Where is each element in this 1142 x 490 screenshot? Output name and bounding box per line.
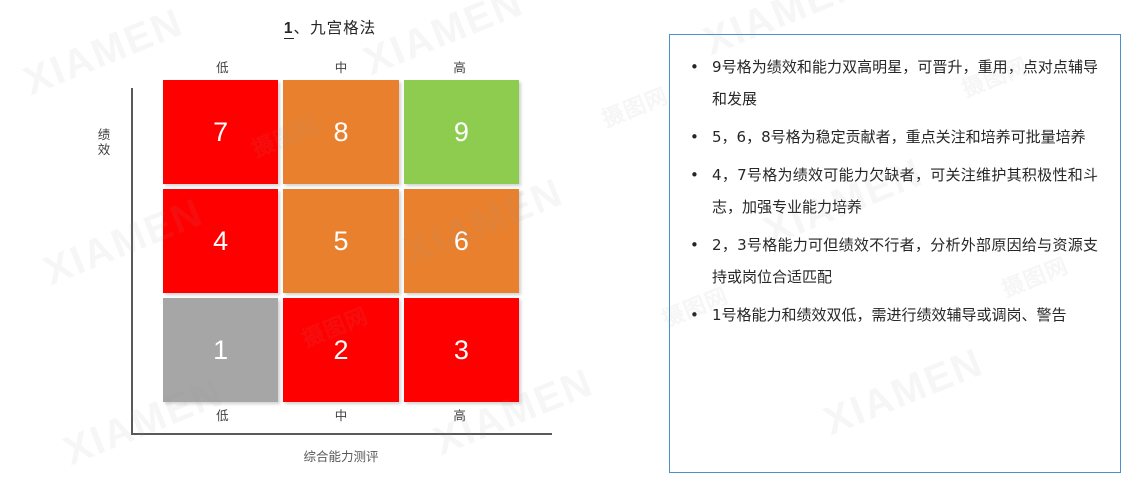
column-header-bottom-low: 低 (163, 405, 282, 424)
grid-cell-label: 9 (454, 117, 469, 148)
bullet-icon: • (690, 121, 699, 153)
grid-cell-9[interactable]: 9 (404, 80, 519, 184)
nine-box-grid: 7 8 9 4 5 6 1 2 3 (163, 80, 519, 402)
chart-title-text: 九宫格法 (310, 20, 376, 37)
bullet-icon: • (690, 51, 699, 83)
grid-cell-4[interactable]: 4 (163, 189, 278, 293)
column-headers-bottom: 低 中 高 (163, 405, 519, 424)
list-item: • 9号格为绩效和能力双高明星，可晋升，重用，点对点辅导和发展 (684, 51, 1098, 115)
list-item: • 5，6，8号格为稳定贡献者，重点关注和培养可批量培养 (684, 121, 1098, 153)
note-text: 4，7号格为绩效可能力欠缺者，可关注维护其积极性和斗志，加强专业能力培养 (712, 166, 1098, 216)
note-text: 1号格能力和绩效双低，需进行绩效辅导或调岗、警告 (712, 306, 1067, 324)
grid-cell-5[interactable]: 5 (283, 189, 398, 293)
column-header-bottom-mid: 中 (282, 405, 401, 424)
grid-cell-3[interactable]: 3 (404, 298, 519, 402)
y-axis-label: 绩效 (92, 128, 116, 158)
bullet-icon: • (690, 229, 699, 261)
bullet-icon: • (690, 299, 699, 331)
x-axis-label: 综合能力测评 (163, 446, 519, 465)
bullet-icon: • (690, 159, 699, 191)
chart-title: 1、九宫格法 (0, 16, 660, 38)
grid-cell-6[interactable]: 6 (404, 189, 519, 293)
grid-cell-label: 5 (333, 226, 348, 257)
x-axis-line (131, 433, 552, 435)
list-item: • 1号格能力和绩效双低，需进行绩效辅导或调岗、警告 (684, 299, 1098, 331)
notes-panel: • 9号格为绩效和能力双高明星，可晋升，重用，点对点辅导和发展 • 5，6，8号… (669, 34, 1121, 473)
list-item: • 4，7号格为绩效可能力欠缺者，可关注维护其积极性和斗志，加强专业能力培养 (684, 159, 1098, 223)
chart-title-number: 1 (284, 20, 294, 39)
notes-list: • 9号格为绩效和能力双高明星，可晋升，重用，点对点辅导和发展 • 5，6，8号… (670, 35, 1120, 331)
list-item: • 2，3号格能力可但绩效不行者，分析外部原因给与资源支持或岗位合适匹配 (684, 229, 1098, 293)
grid-cell-1[interactable]: 1 (163, 298, 278, 402)
y-axis-line (131, 88, 133, 435)
grid-cell-label: 2 (333, 335, 348, 366)
note-text: 2，3号格能力可但绩效不行者，分析外部原因给与资源支持或岗位合适匹配 (712, 236, 1098, 286)
column-headers-top: 低 中 高 (163, 57, 519, 76)
grid-cell-8[interactable]: 8 (283, 80, 398, 184)
column-header-top-mid: 中 (282, 57, 401, 76)
column-header-bottom-high: 高 (400, 405, 519, 424)
grid-cell-7[interactable]: 7 (163, 80, 278, 184)
nine-box-chart-panel: 1、九宫格法 低 中 高 绩效 7 8 9 4 5 6 1 2 (0, 0, 660, 490)
grid-cell-label: 3 (454, 335, 469, 366)
note-text: 5，6，8号格为稳定贡献者，重点关注和培养可批量培养 (712, 128, 1086, 146)
grid-cell-label: 7 (213, 117, 228, 148)
grid-cell-label: 8 (333, 117, 348, 148)
grid-cell-label: 1 (213, 335, 228, 366)
chart-title-separator: 、 (294, 20, 311, 37)
grid-cell-label: 4 (213, 226, 228, 257)
note-text: 9号格为绩效和能力双高明星，可晋升，重用，点对点辅导和发展 (712, 58, 1098, 108)
grid-cell-2[interactable]: 2 (283, 298, 398, 402)
column-header-top-high: 高 (400, 57, 519, 76)
grid-cell-label: 6 (454, 226, 469, 257)
column-header-top-low: 低 (163, 57, 282, 76)
